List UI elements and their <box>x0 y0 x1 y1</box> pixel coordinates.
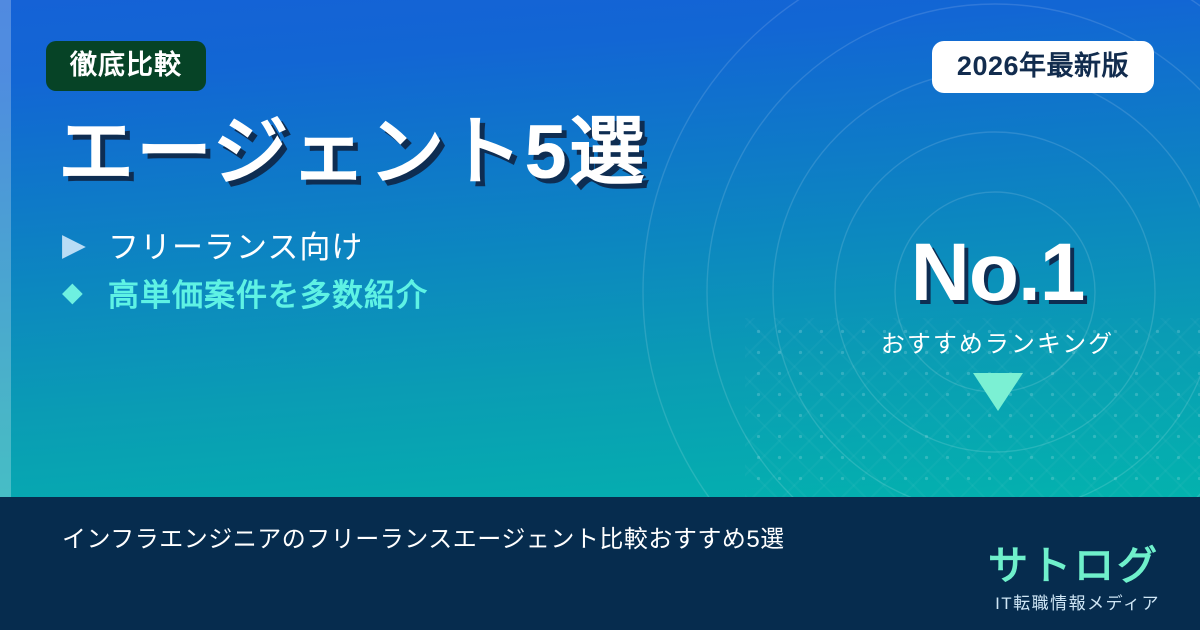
bullet-label-2: 高単価案件を多数紹介 <box>108 270 428 315</box>
rank-subtitle: おすすめランキング <box>845 324 1150 359</box>
triangle-down-icon <box>973 373 1023 411</box>
hero-background: 徹底比較 2026年最新版 エージェント5選 ▶ フリーランス向け ◆ 高単価案… <box>0 0 1200 497</box>
rank-number: No.1 <box>845 232 1150 314</box>
bullet-item-2: ◆ 高単価案件を多数紹介 <box>62 268 428 316</box>
page-title: エージェント5選 <box>58 110 647 195</box>
bullet-item-1: ▶ フリーランス向け <box>62 220 428 268</box>
triangle-right-icon: ▶ <box>62 229 108 260</box>
brand-logo: サトログ IT転職情報メディア <box>988 545 1160 614</box>
brand-tagline: IT転職情報メディア <box>988 589 1160 614</box>
brand-name: サトログ <box>988 545 1160 587</box>
ranking-block: No.1 おすすめランキング <box>845 232 1150 411</box>
thumbnail-canvas: 徹底比較 2026年最新版 エージェント5選 ▶ フリーランス向け ◆ 高単価案… <box>0 0 1200 630</box>
article-title: インフラエンジニアのフリーランスエージェント比較おすすめ5選 <box>62 519 785 554</box>
bullet-list: ▶ フリーランス向け ◆ 高単価案件を多数紹介 <box>62 220 428 316</box>
badge-year: 2026年最新版 <box>932 41 1154 93</box>
diamond-icon: ◆ <box>62 279 108 306</box>
bottom-bar: インフラエンジニアのフリーランスエージェント比較おすすめ5選 サトログ IT転職… <box>0 497 1200 630</box>
badge-compare: 徹底比較 <box>46 41 206 91</box>
bullet-label-1: フリーランス向け <box>108 222 363 267</box>
